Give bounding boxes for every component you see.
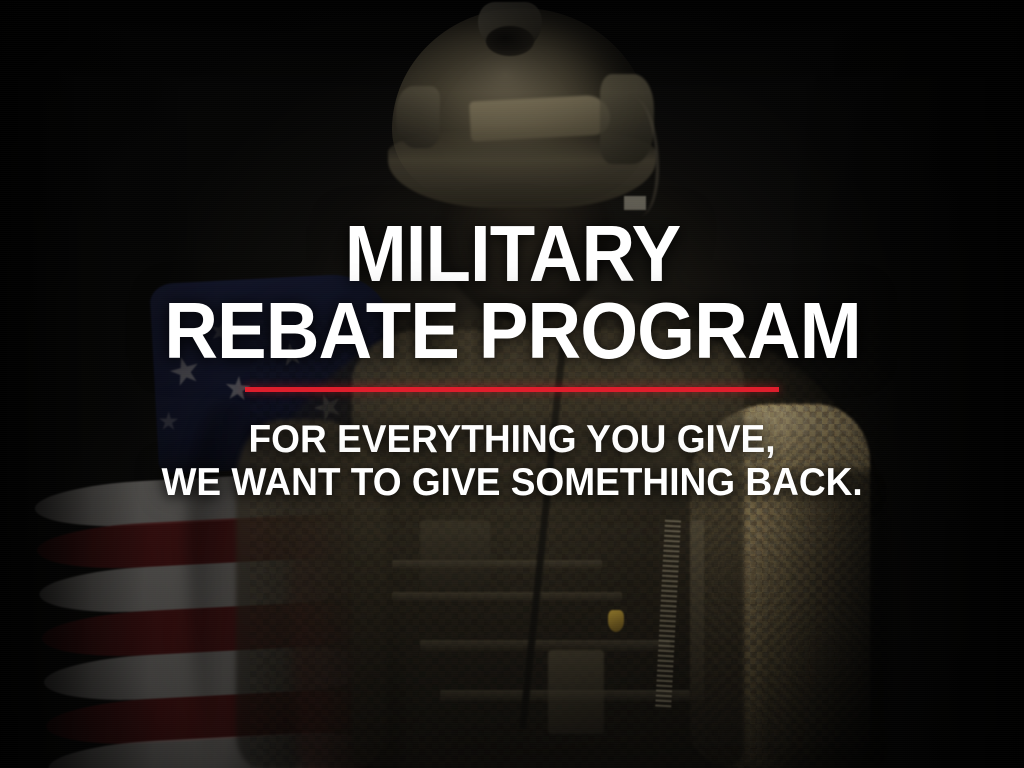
military-rebate-poster: MILITARY REBATE PROGRAM FOR EVERYTHING Y… (0, 0, 1024, 768)
headline-line-1: MILITARY (164, 216, 861, 293)
red-divider (245, 387, 779, 392)
subheadline-line-2: WE WANT TO GIVE SOMETHING BACK. (161, 461, 862, 505)
page-title: MILITARY REBATE PROGRAM (164, 0, 861, 370)
headline-line-2: REBATE PROGRAM (164, 293, 861, 370)
poster-content: MILITARY REBATE PROGRAM FOR EVERYTHING Y… (0, 0, 1024, 768)
subheadline: FOR EVERYTHING YOU GIVE, WE WANT TO GIVE… (161, 418, 862, 505)
subheadline-line-1: FOR EVERYTHING YOU GIVE, (161, 418, 862, 462)
